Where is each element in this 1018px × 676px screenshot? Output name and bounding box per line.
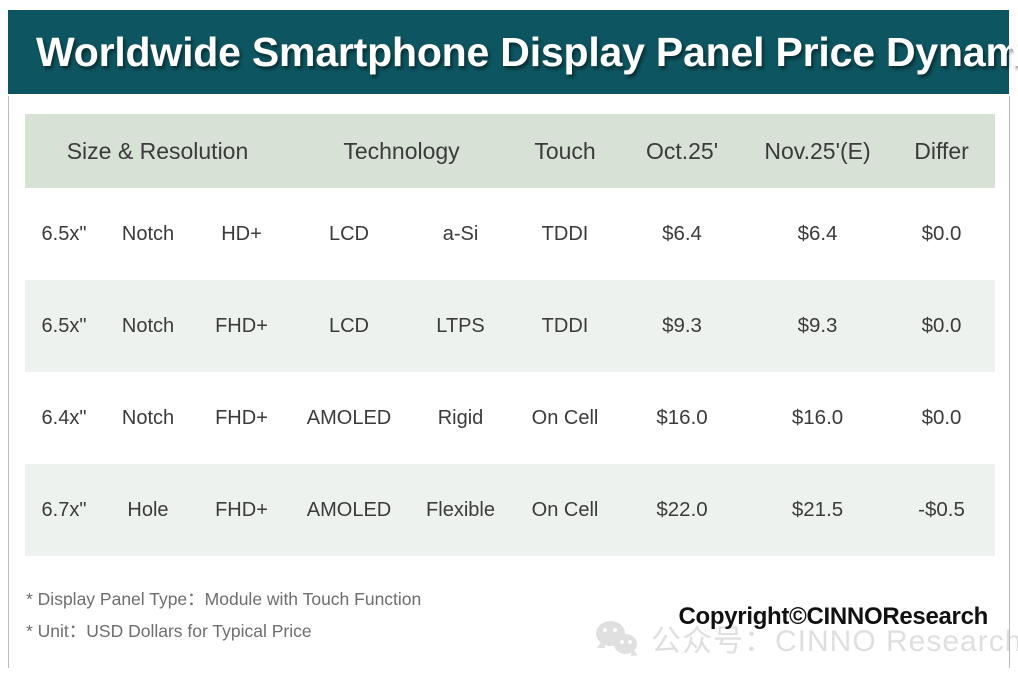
cell-backplane: a-Si xyxy=(408,188,513,280)
cell-nov-price: $6.4 xyxy=(747,188,888,280)
table-row: 6.7x" Hole FHD+ AMOLED Flexible On Cell … xyxy=(25,464,995,556)
footnote-panel-type: * Display Panel Type：Module with Touch F… xyxy=(26,583,421,615)
cell-cutout: Notch xyxy=(103,372,193,464)
cell-technology: AMOLED xyxy=(290,372,408,464)
cell-backplane: LTPS xyxy=(408,280,513,372)
footnotes: * Display Panel Type：Module with Touch F… xyxy=(26,583,421,647)
card-border-left xyxy=(8,96,9,668)
copyright-label: Copyright©CINNOResearch xyxy=(678,603,988,631)
cell-cutout: Notch xyxy=(103,280,193,372)
table-header-row: Size & Resolution Technology Touch Oct.2… xyxy=(25,114,995,188)
cell-touch: On Cell xyxy=(513,464,617,556)
cell-resolution: HD+ xyxy=(193,188,290,280)
cell-oct-price: $16.0 xyxy=(617,372,747,464)
cell-resolution: FHD+ xyxy=(193,464,290,556)
cell-oct-price: $9.3 xyxy=(617,280,747,372)
table-body: 6.5x" Notch HD+ LCD a-Si TDDI $6.4 $6.4 … xyxy=(25,188,995,556)
cell-touch: On Cell xyxy=(513,372,617,464)
infographic-page: Worldwide Smartphone Display Panel Price… xyxy=(0,0,1018,676)
cell-touch: TDDI xyxy=(513,188,617,280)
cell-oct-price: $6.4 xyxy=(617,188,747,280)
cell-cutout: Notch xyxy=(103,188,193,280)
column-header-touch: Touch xyxy=(513,114,617,188)
cell-nov-price: $21.5 xyxy=(747,464,888,556)
table-header: Size & Resolution Technology Touch Oct.2… xyxy=(25,114,995,188)
column-header-oct: Oct.25' xyxy=(617,114,747,188)
cell-backplane: Rigid xyxy=(408,372,513,464)
cell-size: 6.7x" xyxy=(25,464,103,556)
cell-differ: $0.0 xyxy=(888,280,995,372)
cell-differ: $0.0 xyxy=(888,372,995,464)
cell-size: 6.5x" xyxy=(25,188,103,280)
cell-technology: AMOLED xyxy=(290,464,408,556)
cell-nov-price: $9.3 xyxy=(747,280,888,372)
cell-resolution: FHD+ xyxy=(193,280,290,372)
cell-differ: $0.0 xyxy=(888,188,995,280)
price-table-container: Size & Resolution Technology Touch Oct.2… xyxy=(25,114,995,556)
card-border-right xyxy=(1009,96,1010,668)
price-table: Size & Resolution Technology Touch Oct.2… xyxy=(25,114,995,556)
cell-oct-price: $22.0 xyxy=(617,464,747,556)
cell-resolution: FHD+ xyxy=(193,372,290,464)
cell-differ: -$0.5 xyxy=(888,464,995,556)
cell-technology: LCD xyxy=(290,188,408,280)
column-header-nov: Nov.25'(E) xyxy=(747,114,888,188)
footnote-unit: * Unit：USD Dollars for Typical Price xyxy=(26,615,421,647)
cell-nov-price: $16.0 xyxy=(747,372,888,464)
cell-touch: TDDI xyxy=(513,280,617,372)
cell-technology: LCD xyxy=(290,280,408,372)
column-header-size-resolution: Size & Resolution xyxy=(25,114,290,188)
column-header-differ: Differ xyxy=(888,114,995,188)
table-row: 6.4x" Notch FHD+ AMOLED Rigid On Cell $1… xyxy=(25,372,995,464)
cell-size: 6.4x" xyxy=(25,372,103,464)
cell-cutout: Hole xyxy=(103,464,193,556)
cell-size: 6.5x" xyxy=(25,280,103,372)
page-title: Worldwide Smartphone Display Panel Price… xyxy=(36,29,1018,76)
wechat-icon xyxy=(596,619,642,657)
table-row: 6.5x" Notch HD+ LCD a-Si TDDI $6.4 $6.4 … xyxy=(25,188,995,280)
table-row: 6.5x" Notch FHD+ LCD LTPS TDDI $9.3 $9.3… xyxy=(25,280,995,372)
column-header-technology: Technology xyxy=(290,114,513,188)
title-banner: Worldwide Smartphone Display Panel Price… xyxy=(8,10,1009,94)
cell-backplane: Flexible xyxy=(408,464,513,556)
